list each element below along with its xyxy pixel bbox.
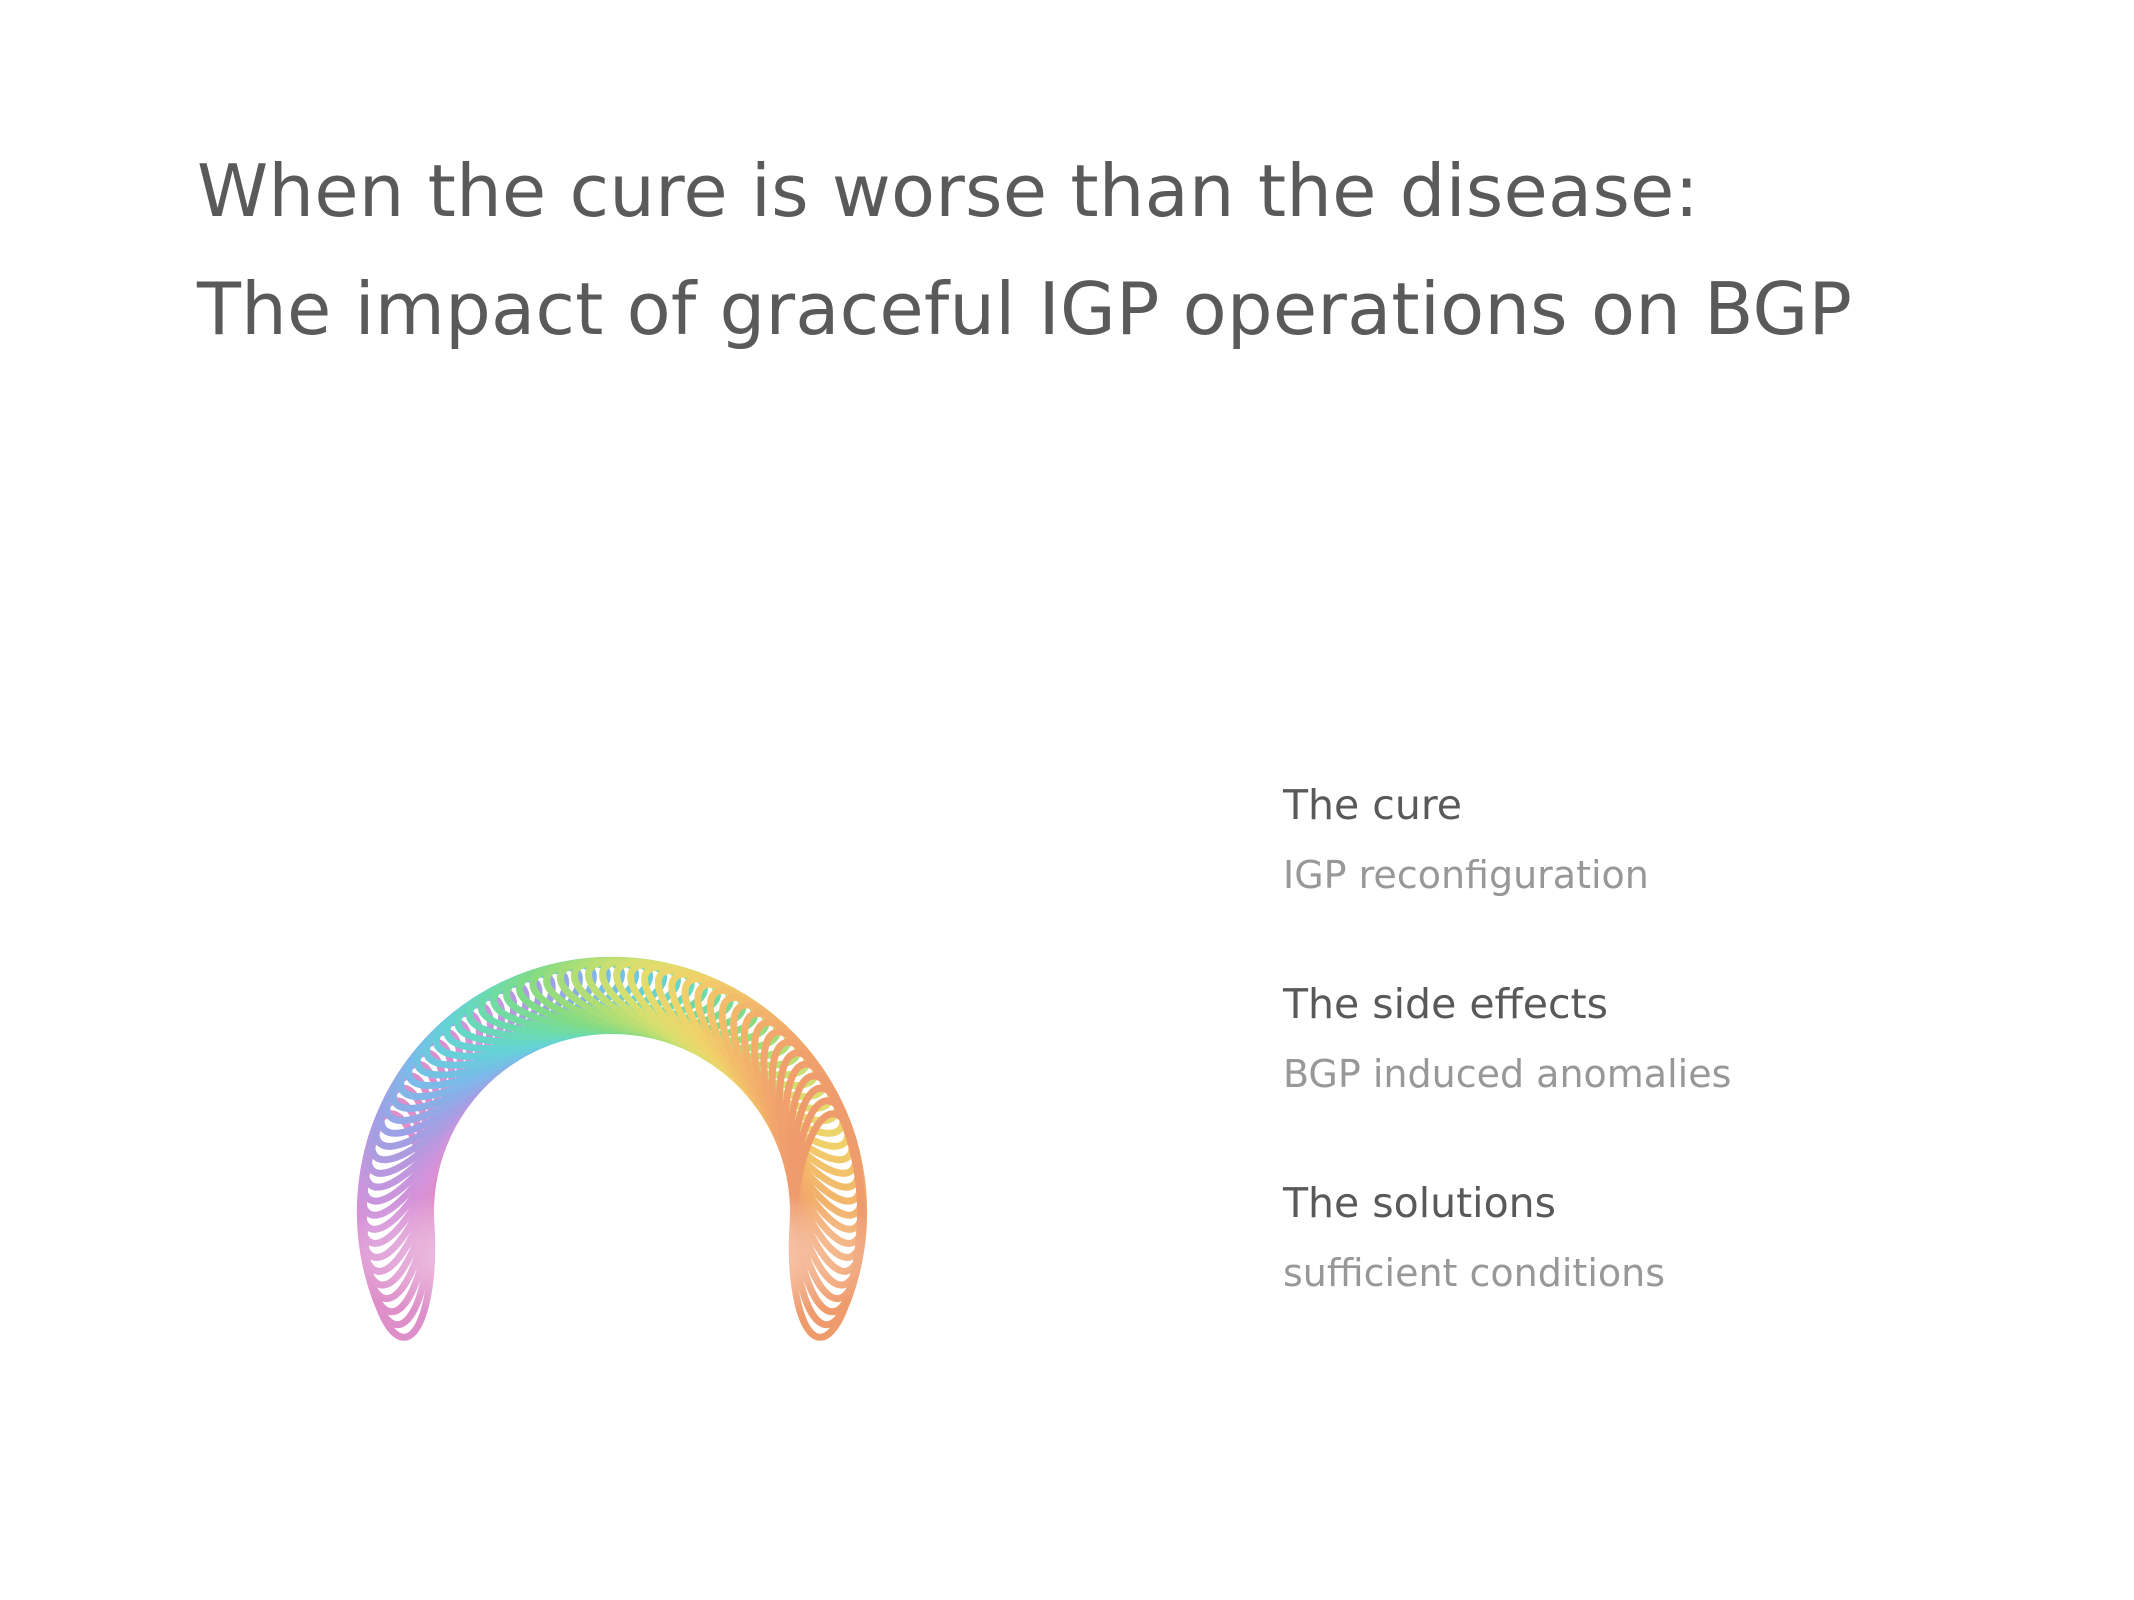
slide-title: When the cure is worse than the disease:… <box>197 132 2017 368</box>
presentation-slide: When the cure is worse than the disease:… <box>0 0 2134 1600</box>
title-line-2: The impact of graceful IGP operations on… <box>197 250 2017 368</box>
agenda-item-the-cure[interactable]: The cure IGP reconfiguration <box>1283 778 2043 901</box>
agenda-heading-the-cure: The cure <box>1283 778 2043 833</box>
title-line-1: When the cure is worse than the disease: <box>197 132 2017 250</box>
agenda-subtitle-the-side-effects: BGP induced anomalies <box>1283 1048 2043 1100</box>
agenda-list: The cure IGP reconfiguration The side ef… <box>1283 778 2043 1299</box>
agenda-item-the-side-effects[interactable]: The side effects BGP induced anomalies <box>1283 977 2043 1100</box>
agenda-subtitle-the-cure: IGP reconfiguration <box>1283 849 2043 901</box>
agenda-item-the-solutions[interactable]: The solutions sufficient conditions <box>1283 1176 2043 1299</box>
agenda-heading-the-side-effects: The side effects <box>1283 977 2043 1032</box>
agenda-subtitle-the-solutions: sufficient conditions <box>1283 1247 2043 1299</box>
agenda-heading-the-solutions: The solutions <box>1283 1176 2043 1231</box>
rainbow-slinky-spring-illustration <box>262 840 962 1370</box>
